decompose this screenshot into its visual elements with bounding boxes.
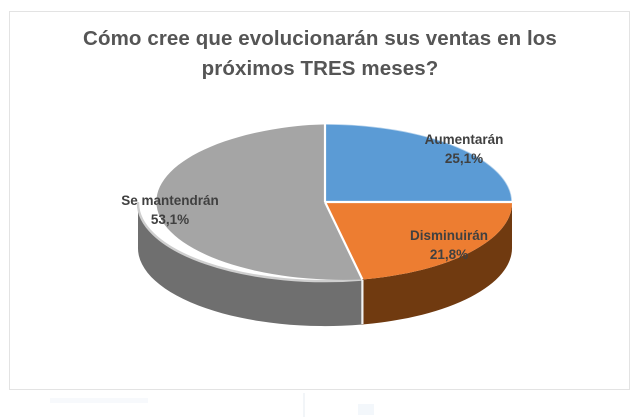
- chart-page: Cómo cree que evolucionarán sus ventas e…: [0, 0, 642, 417]
- pie-label-disminuiran-value: 21,8%: [383, 245, 515, 264]
- pie-label-se-mantendran-value: 53,1%: [90, 210, 250, 229]
- pie-label-se-mantendran-name: Se mantendrán: [121, 193, 219, 208]
- pie-label-se-mantendran: Se mantendrán 53,1%: [90, 191, 250, 229]
- pie-label-aumentaran: Aumentarán 25,1%: [398, 130, 530, 168]
- pie-label-disminuiran: Disminuirán 21,8%: [383, 226, 515, 264]
- pie-label-aumentaran-value: 25,1%: [398, 149, 530, 168]
- pie-label-aumentaran-name: Aumentarán: [425, 132, 504, 147]
- pie-label-disminuiran-name: Disminuirán: [410, 228, 488, 243]
